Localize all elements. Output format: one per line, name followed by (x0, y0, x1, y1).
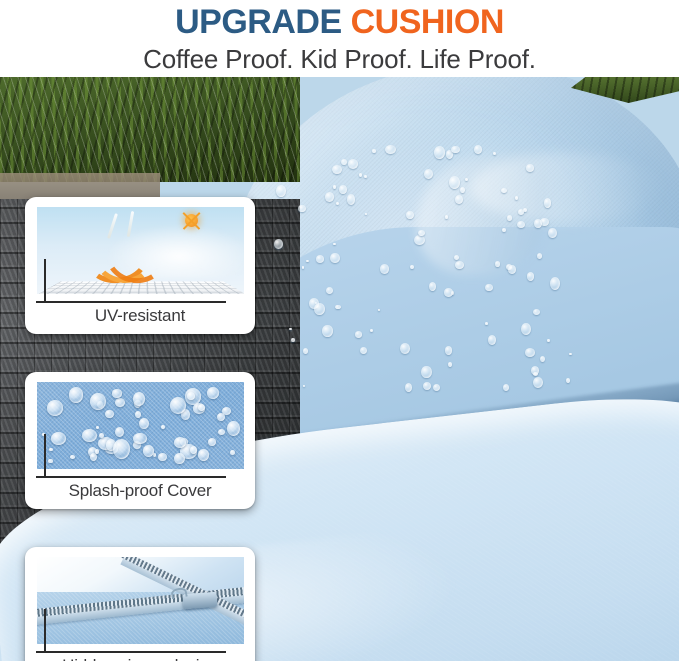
water-drop-icon (544, 198, 552, 208)
feature-card-splash-proof[interactable]: Splash-proof Cover (25, 372, 255, 509)
water-drop-icon (306, 260, 309, 262)
water-drop-icon (316, 255, 325, 263)
water-drop-icon (336, 202, 339, 205)
water-drop-icon (207, 387, 219, 399)
water-drop-icon (518, 209, 524, 215)
water-drop-icon (502, 228, 506, 232)
splash-proof-thumbnail (37, 382, 244, 469)
water-drop-icon (533, 377, 543, 388)
water-drop-icon (333, 185, 336, 188)
water-drop-icon (400, 343, 410, 354)
water-drop-icon (143, 445, 154, 456)
water-drop-icon (372, 149, 376, 152)
water-drop-icon (332, 165, 342, 174)
water-drop-icon (47, 400, 63, 415)
water-drop-icon (276, 185, 286, 197)
headline-accent: CUSHION (351, 3, 504, 41)
water-drop-icon (465, 178, 468, 181)
water-drop-icon (434, 146, 444, 159)
water-drop-icon (406, 211, 413, 219)
water-drop-icon (112, 389, 122, 397)
water-drop-icon (341, 159, 347, 165)
feature-card-label: Hidden zipper design (25, 647, 255, 661)
water-drop-icon (534, 219, 542, 228)
water-drop-icon (569, 353, 572, 356)
water-drop-icon (445, 215, 448, 219)
water-drop-icon (405, 383, 412, 392)
water-drop-icon (540, 356, 545, 362)
water-drop-icon (325, 192, 334, 202)
water-drop-icon (69, 387, 83, 402)
water-drop-icon (418, 230, 425, 236)
water-drop-icon (348, 159, 359, 169)
water-drop-icon (330, 253, 340, 264)
water-drop-icon (339, 185, 347, 194)
water-drop-icon (414, 235, 424, 245)
feature-card-hidden-zipper[interactable]: Hidden zipper design (25, 547, 255, 661)
water-drop-icon (198, 449, 210, 461)
water-drop-icon (485, 284, 492, 291)
water-drop-icon (451, 146, 459, 153)
water-drop-icon (161, 425, 165, 429)
water-drop-icon (460, 187, 464, 193)
uv-resistant-thumbnail (37, 207, 244, 294)
water-drop-icon (424, 169, 433, 179)
water-drop-icon (326, 287, 333, 294)
banner-header: UPGRADE CUSHION Coffee Proof. Kid Proof.… (0, 0, 679, 77)
water-drop-icon (115, 427, 124, 437)
water-drop-icon (548, 228, 557, 239)
water-drop-icon (495, 261, 500, 266)
water-drop-icon (380, 264, 389, 273)
water-drop-icon (448, 362, 452, 367)
water-drop-icon (274, 239, 283, 249)
zipper-slider-icon (183, 592, 218, 609)
water-drop-icon (515, 196, 518, 200)
water-drop-icon (139, 418, 149, 429)
water-drop-icon (433, 384, 440, 391)
water-drop-icon (303, 385, 305, 387)
feature-card-uv-resistant[interactable]: UV-resistant (25, 197, 255, 334)
product-photo: UV-resistant Splash-proof Cover (0, 77, 679, 661)
water-drop-icon (365, 213, 367, 215)
water-drop-icon (501, 188, 507, 193)
water-drop-icon (474, 145, 482, 154)
water-drop-icon (105, 410, 113, 418)
water-drop-icon (429, 282, 436, 291)
water-drop-icon (187, 392, 195, 399)
water-drop-icon (96, 426, 99, 429)
water-drop-icon (360, 347, 367, 354)
sun-icon (185, 214, 198, 227)
water-drop-icon (527, 272, 535, 281)
water-drop-icon (289, 328, 292, 331)
page-title: UPGRADE CUSHION (175, 2, 504, 42)
foliage-background (0, 77, 300, 182)
water-drop-icon (421, 366, 431, 379)
water-drop-icon (333, 243, 335, 245)
water-drop-icon (133, 433, 146, 444)
water-drop-icon (385, 145, 396, 155)
water-drop-icon (423, 382, 431, 390)
water-drop-icon (370, 329, 373, 332)
water-drop-icon (507, 215, 512, 220)
water-drop-icon (526, 164, 534, 171)
water-drop-icon (525, 348, 536, 357)
feature-card-label: UV-resistant (25, 297, 255, 334)
water-drop-icon (537, 253, 543, 259)
water-drop-icon (113, 439, 130, 459)
water-drop-icon (533, 372, 538, 376)
water-drop-icon (533, 309, 540, 315)
water-drop-icon (174, 453, 185, 465)
water-drop-icon (335, 305, 341, 310)
water-droplets (260, 77, 679, 407)
headline-primary: UPGRADE (175, 3, 342, 41)
feature-card-label: Splash-proof Cover (25, 472, 255, 509)
water-drop-icon (455, 261, 464, 269)
water-drop-icon (485, 322, 488, 325)
water-drop-icon (378, 309, 380, 311)
product-feature-banner: UPGRADE CUSHION Coffee Proof. Kid Proof.… (0, 0, 679, 661)
water-drop-icon (508, 265, 516, 274)
water-drop-icon (314, 303, 325, 316)
water-drop-icon (355, 331, 363, 337)
water-drop-icon (364, 175, 367, 178)
water-drop-icon (158, 453, 166, 461)
water-drop-icon (444, 288, 453, 296)
water-drop-icon (303, 348, 308, 354)
water-drop-icon (48, 459, 52, 463)
hidden-zipper-thumbnail (37, 557, 244, 644)
water-drop-icon (566, 378, 570, 383)
water-drop-icon (302, 266, 304, 269)
water-drop-icon (90, 393, 106, 410)
water-drop-icon (410, 265, 414, 269)
water-drop-icon (454, 255, 459, 260)
water-drop-icon (135, 411, 141, 417)
water-drop-icon (90, 453, 97, 460)
water-drop-icon (550, 277, 560, 290)
water-drop-icon (488, 335, 497, 346)
water-drop-icon (208, 438, 216, 446)
water-drop-icon (521, 323, 531, 335)
water-drop-icon (174, 437, 186, 448)
water-drop-icon (322, 325, 333, 336)
water-drop-icon (359, 173, 362, 177)
water-drop-icon (291, 338, 295, 343)
water-drop-icon (298, 205, 305, 213)
water-drop-icon (347, 194, 355, 205)
water-drop-icon (503, 384, 510, 391)
water-drop-icon (445, 346, 453, 355)
water-drop-icon (455, 195, 463, 204)
water-drop-icon (493, 152, 496, 155)
water-drop-icon (517, 221, 525, 228)
water-drop-icon (99, 433, 104, 438)
water-drop-icon (217, 413, 225, 421)
page-subtitle: Coffee Proof. Kid Proof. Life Proof. (143, 43, 536, 75)
water-drop-icon (449, 176, 460, 189)
water-drop-icon (547, 339, 550, 342)
